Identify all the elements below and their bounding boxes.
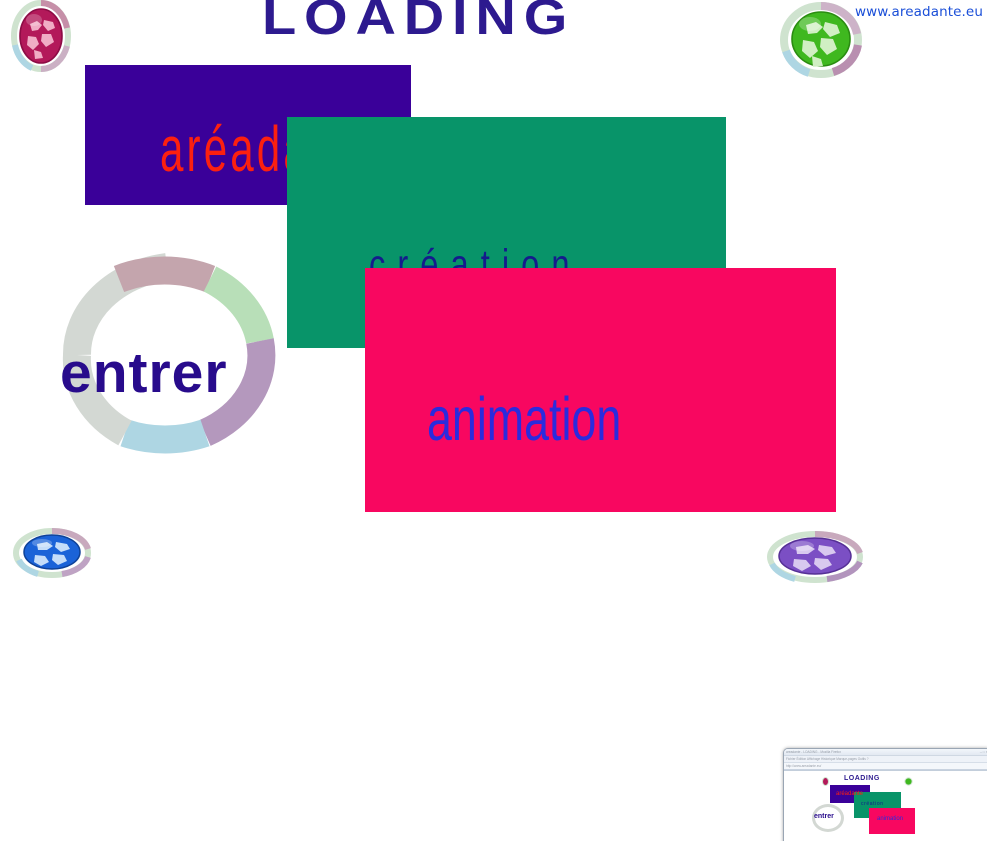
label-animation: animation bbox=[427, 383, 621, 455]
page-title: LOADING bbox=[262, 0, 575, 42]
thumbnail-viewport: LOADING aréadante création ani bbox=[784, 771, 987, 841]
page-stage: www.areadante.eu LOADING bbox=[0, 0, 987, 841]
thumbnail-preview-panel[interactable]: areadante - LOADING - Mozilla Firefox ─ … bbox=[777, 740, 987, 841]
thumbnail-window-controls[interactable]: ─ □ ✕ bbox=[980, 749, 987, 755]
enter-button[interactable]: entrer bbox=[47, 253, 287, 457]
thumbnail-label-areadante: aréadante bbox=[836, 791, 863, 797]
thumbnail-label-creation: création bbox=[861, 801, 884, 807]
site-url-link[interactable]: www.areadante.eu bbox=[855, 4, 983, 20]
thumbnail-browser-window[interactable]: areadante - LOADING - Mozilla Firefox ─ … bbox=[783, 748, 987, 841]
thumbnail-globe-top-left-icon bbox=[822, 773, 829, 791]
thumbnail-menubar: Fichier Édition Affichage Historique Mar… bbox=[784, 756, 987, 763]
thumbnail-menu-text: Fichier Édition Affichage Historique Mar… bbox=[786, 756, 869, 762]
globe-logo-top-left-icon[interactable] bbox=[10, 0, 72, 72]
thumbnail-globe-top-right-icon bbox=[904, 773, 913, 791]
thumbnail-globe-bottom-left-icon bbox=[810, 834, 819, 841]
globe-logo-bottom-left-icon[interactable] bbox=[12, 527, 92, 579]
thumbnail-address-text: http://www.areadante.eu/ bbox=[786, 763, 821, 769]
thumbnail-browser-chrome: areadante - LOADING - Mozilla Firefox ─ … bbox=[784, 749, 987, 771]
enter-button-label: entrer bbox=[60, 345, 350, 402]
thumbnail-enter-label: entrer bbox=[814, 813, 834, 820]
globe-logo-bottom-right-icon[interactable] bbox=[765, 530, 865, 584]
thumbnail-label-animation: animation bbox=[877, 816, 903, 822]
thumbnail-globe-bottom-right-icon bbox=[902, 834, 912, 841]
block-animation[interactable]: animation bbox=[365, 268, 836, 512]
thumbnail-window-title: areadante - LOADING - Mozilla Firefox bbox=[786, 749, 841, 755]
thumbnail-loading-title: LOADING bbox=[844, 775, 880, 782]
globe-logo-top-right-icon[interactable] bbox=[776, 1, 866, 79]
thumbnail-addressbar[interactable]: http://www.areadante.eu/ bbox=[784, 763, 987, 770]
thumbnail-titlebar: areadante - LOADING - Mozilla Firefox ─ … bbox=[784, 749, 987, 756]
